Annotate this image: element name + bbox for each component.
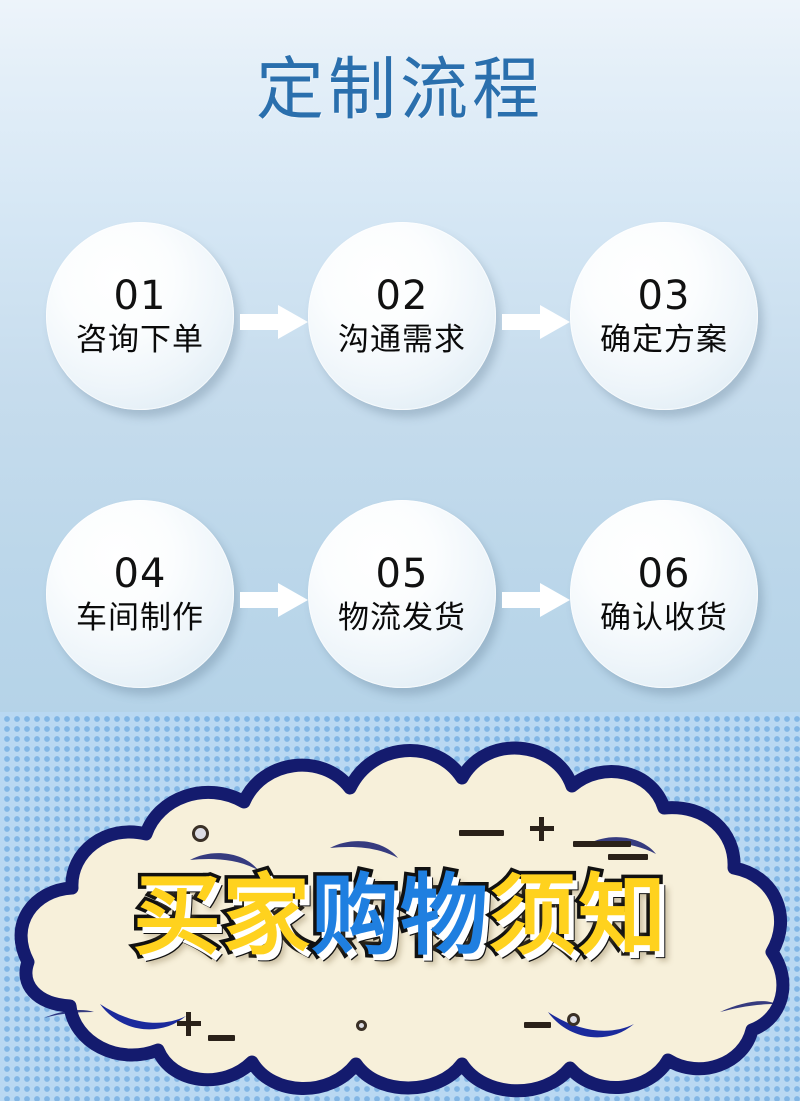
flow-step-row-2: 04 车间制作 05 物流发货 06 确认收货 — [0, 500, 800, 700]
arrow-head — [278, 583, 308, 617]
arrow-right-icon — [240, 583, 308, 617]
flow-step-02[interactable]: 02 沟通需求 — [308, 222, 496, 410]
flow-step-number: 02 — [376, 274, 429, 318]
buyer-notice-banner-section: 买家购物须知 — [0, 712, 800, 1101]
dash-mark-1 — [459, 830, 504, 836]
flow-step-label: 车间制作 — [76, 600, 204, 636]
flow-step-row-1: 01 咨询下单 02 沟通需求 03 确定方案 — [0, 222, 800, 422]
page-title: 定制流程 — [0, 52, 800, 130]
flow-step-label: 确认收货 — [600, 600, 728, 636]
arrow-head — [540, 305, 570, 339]
banner-title-char-4: 物 — [400, 866, 489, 966]
arrow-tail — [502, 592, 544, 608]
plus-mark-1 — [530, 816, 554, 842]
arrow-right-icon — [240, 305, 308, 339]
arrow-tail — [240, 314, 282, 330]
flow-step-label: 物流发货 — [338, 600, 466, 636]
flow-step-label: 沟通需求 — [338, 322, 466, 358]
banner-title-char-2: 家 — [222, 866, 311, 966]
dash-mark-3 — [608, 854, 648, 860]
dash-mark-5 — [524, 1022, 551, 1028]
flow-step-number: 01 — [114, 274, 167, 318]
ring-mark-3 — [567, 1013, 580, 1026]
arrow-right-icon — [502, 583, 570, 617]
banner-title-char-3: 购 — [311, 866, 400, 966]
flow-step-01[interactable]: 01 咨询下单 — [46, 222, 234, 410]
flow-step-05[interactable]: 05 物流发货 — [308, 500, 496, 688]
customization-flow-section: 定制流程 01 咨询下单 02 沟通需求 03 确定方案 04 车间制作 — [0, 0, 800, 713]
arrow-tail — [240, 592, 282, 608]
banner-title: 买家购物须知 — [0, 866, 800, 966]
flow-step-number: 03 — [638, 274, 691, 318]
banner-title-char-6: 知 — [578, 866, 667, 966]
banner-title-char-1: 买 — [133, 866, 222, 966]
ring-mark-2 — [356, 1020, 367, 1031]
dash-mark-2 — [573, 841, 631, 847]
flow-step-number: 05 — [376, 552, 429, 596]
banner-title-char-5: 须 — [489, 866, 578, 966]
flow-step-03[interactable]: 03 确定方案 — [570, 222, 758, 410]
flow-step-label: 确定方案 — [600, 322, 728, 358]
plus-mark-2 — [177, 1011, 201, 1037]
arrow-head — [540, 583, 570, 617]
flow-step-number: 06 — [638, 552, 691, 596]
ring-mark-1 — [192, 825, 209, 842]
arrow-right-icon — [502, 305, 570, 339]
flow-step-06[interactable]: 06 确认收货 — [570, 500, 758, 688]
flow-step-label: 咨询下单 — [76, 322, 204, 358]
dash-mark-4 — [208, 1035, 235, 1041]
arrow-head — [278, 305, 308, 339]
flow-step-04[interactable]: 04 车间制作 — [46, 500, 234, 688]
flow-step-number: 04 — [114, 552, 167, 596]
arrow-tail — [502, 314, 544, 330]
